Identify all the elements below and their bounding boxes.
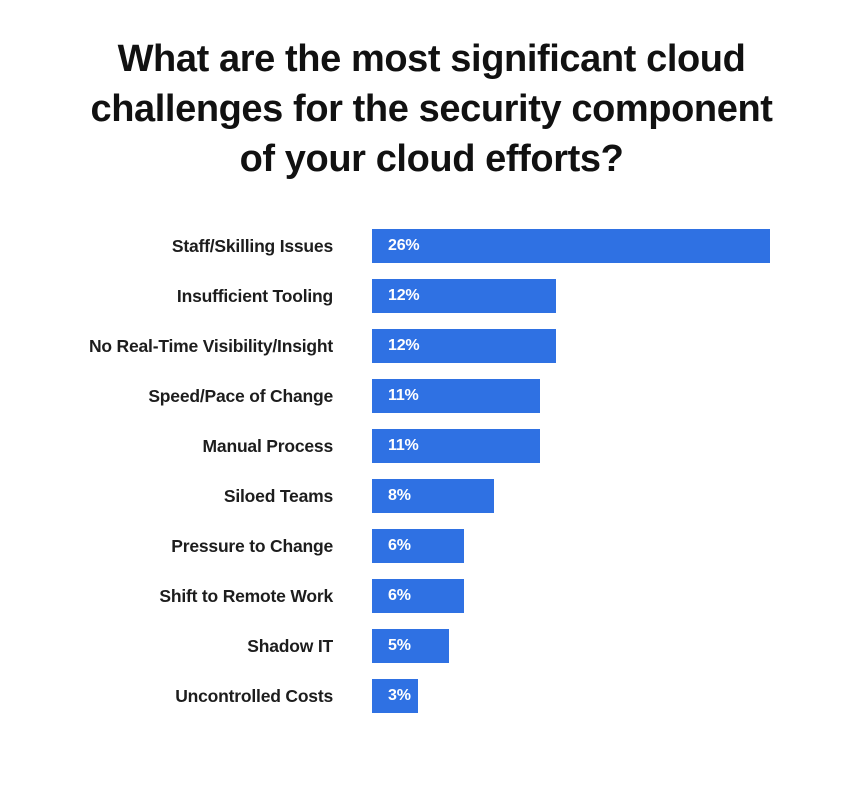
- bar-category-label: Insufficient Tooling: [53, 279, 333, 313]
- bar-fill: [372, 279, 556, 313]
- bar-track: 12%: [372, 329, 832, 363]
- bar-row: Shadow IT5%: [0, 629, 863, 663]
- bar-track: 11%: [372, 429, 832, 463]
- chart-title: What are the most significant cloud chal…: [48, 34, 815, 184]
- bar-row: Insufficient Tooling12%: [0, 279, 863, 313]
- bar-category-label: Uncontrolled Costs: [53, 679, 333, 713]
- bar-category-label: Manual Process: [53, 429, 333, 463]
- bar-track: 11%: [372, 379, 832, 413]
- bar-row: Siloed Teams8%: [0, 479, 863, 513]
- chart-card: What are the most significant cloud chal…: [0, 0, 863, 793]
- bar-chart-plot-area: Staff/Skilling Issues26%Insufficient Too…: [0, 229, 863, 729]
- bar-fill: [372, 579, 464, 613]
- bar-fill: [372, 529, 464, 563]
- bar-category-label: No Real-Time Visibility/Insight: [53, 329, 333, 363]
- bar-row: Pressure to Change6%: [0, 529, 863, 563]
- bar-category-label: Shift to Remote Work: [53, 579, 333, 613]
- bar-row: Manual Process11%: [0, 429, 863, 463]
- bar-fill: [372, 479, 494, 513]
- bar-category-label: Siloed Teams: [53, 479, 333, 513]
- bar-fill: [372, 329, 556, 363]
- bar-fill: [372, 229, 770, 263]
- bar-fill: [372, 629, 449, 663]
- bar-row: Speed/Pace of Change11%: [0, 379, 863, 413]
- bar-row: Staff/Skilling Issues26%: [0, 229, 863, 263]
- bar-row: No Real-Time Visibility/Insight12%: [0, 329, 863, 363]
- bar-fill: [372, 679, 418, 713]
- bar-category-label: Speed/Pace of Change: [53, 379, 333, 413]
- bar-fill: [372, 429, 540, 463]
- bar-category-label: Shadow IT: [53, 629, 333, 663]
- bar-category-label: Pressure to Change: [53, 529, 333, 563]
- bar-track: 8%: [372, 479, 832, 513]
- bar-track: 6%: [372, 579, 832, 613]
- bar-category-label: Staff/Skilling Issues: [53, 229, 333, 263]
- bar-track: 12%: [372, 279, 832, 313]
- bar-track: 3%: [372, 679, 832, 713]
- bar-track: 6%: [372, 529, 832, 563]
- bar-track: 5%: [372, 629, 832, 663]
- bar-fill: [372, 379, 540, 413]
- bar-track: 26%: [372, 229, 832, 263]
- bar-row: Uncontrolled Costs3%: [0, 679, 863, 713]
- bar-row: Shift to Remote Work6%: [0, 579, 863, 613]
